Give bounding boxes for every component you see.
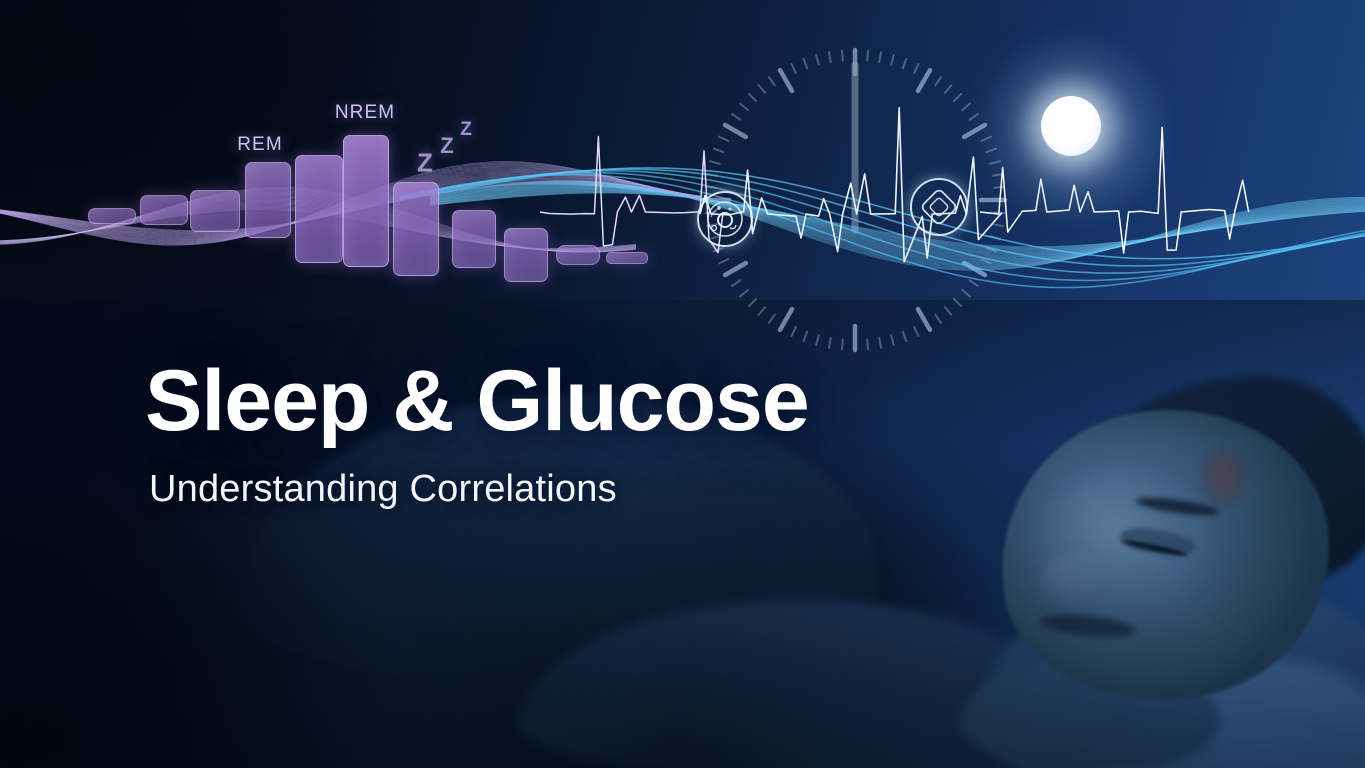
sleep-stage-label: NREM [335,102,395,124]
moon-icon [1041,96,1101,156]
diamond-target-icon [910,178,968,236]
sleep-stage-bar [190,190,240,232]
slide-canvas: REMNREM ZZZ Sleep & Glucose Understandin… [0,0,1365,768]
sleep-stage-bar [140,195,188,225]
circadian-rings-icon [697,191,753,247]
sleep-stage-bar [343,135,389,267]
sleep-stage-label: REM [237,134,283,156]
hero-text-block: Sleep & Glucose Understanding Correlatio… [145,358,809,511]
zzz-glyph: Z [440,133,453,159]
sleep-stage-bar [556,245,600,265]
sleep-stage-bar [504,228,548,282]
zzz-glyph: Z [460,119,472,141]
sleep-stage-bar [606,252,648,264]
sleep-stage-bar [245,162,291,238]
sleep-stage-bar [295,155,343,263]
sleep-stage-bar [88,208,136,224]
data-visualization-artwork: REMNREM ZZZ [0,0,1365,340]
page-subtitle: Understanding Correlations [149,468,809,511]
zzz-glyph: Z [417,148,433,179]
page-title: Sleep & Glucose [145,358,809,446]
sleep-stage-bar [452,210,496,268]
sleep-stage-bar [393,182,439,276]
